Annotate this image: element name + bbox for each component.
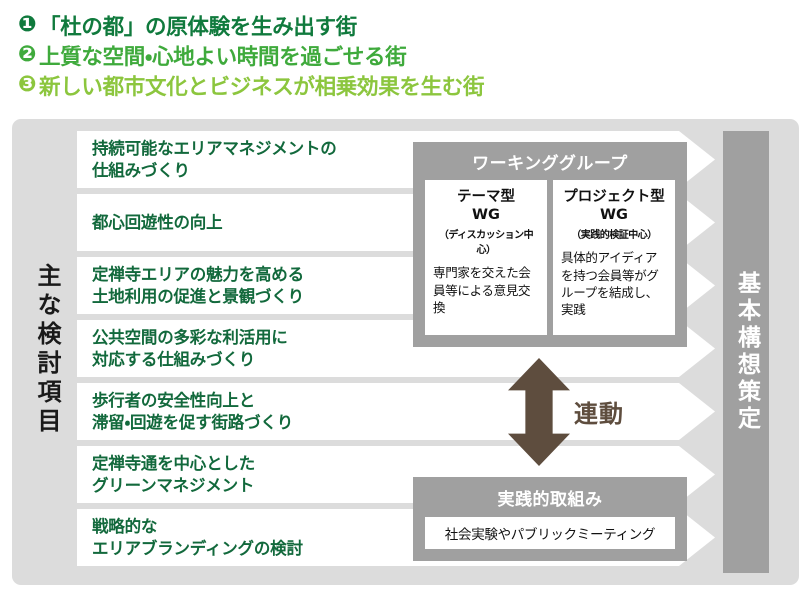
practical-efforts-box: 実践的取組み 社会実験やパブリックミーティング bbox=[413, 477, 687, 561]
goal-item-2: ❷ 上質な空間・心地よい時間を過ごせる街 bbox=[16, 40, 811, 70]
list-item-label: 定禅寺通を中心とした グリーンマネジメント bbox=[77, 453, 255, 497]
goal-bullet-1-icon: ❶ bbox=[16, 14, 38, 36]
list-item-label: 公共空間の多彩な利活用に 対応する仕組みづくり bbox=[77, 327, 288, 371]
wg-card-theme: テーマ型 WG （ディスカッション中心） 専門家を交えた会員等による意見交換 bbox=[425, 180, 547, 335]
goal-item-1: ❶ 「杜の都」の原体験を生み出す街 bbox=[16, 10, 811, 40]
goal-bullet-3-icon: ❸ bbox=[16, 74, 38, 96]
main-review-items-label: 主な検討項目 bbox=[24, 150, 70, 550]
goals-header: ❶ 「杜の都」の原体験を生み出す街 ❷ 上質な空間・心地よい時間を過ごせる街 ❸… bbox=[0, 0, 811, 112]
goal-text-2: 上質な空間・心地よい時間を過ごせる街 bbox=[39, 40, 406, 71]
goal-item-3: ❸ 新しい都市文化とビジネスが相乗効果を生む街 bbox=[16, 70, 811, 100]
list-item-label: 歩行者の安全性向上と 滞留・回遊を促す街路づくり bbox=[77, 390, 293, 434]
wg-card-description: 具体的アイディアを持つ会員等がグループを結成し、実践 bbox=[561, 249, 667, 318]
list-item-label: 戦略的な エリアブランディングの検討 bbox=[77, 516, 303, 560]
wg-card-name: テーマ型 WG bbox=[433, 188, 539, 224]
wg-card-subtitle: （ディスカッション中心） bbox=[433, 226, 539, 256]
working-group-cards: テーマ型 WG （ディスカッション中心） 専門家を交えた会員等による意見交換 プ… bbox=[425, 180, 675, 335]
practical-efforts-title: 実践的取組み bbox=[413, 477, 687, 517]
working-group-box: ワーキンググループ テーマ型 WG （ディスカッション中心） 専門家を交えた会員… bbox=[413, 142, 687, 347]
list-item-label: 定禅寺エリアの魅力を高める 土地利用の促進と景観づくり bbox=[77, 264, 304, 308]
basic-concept-label: 基本構想策定 bbox=[723, 131, 769, 573]
wg-card-subtitle: （実践的検証中心） bbox=[561, 226, 667, 241]
wg-card-project: プロジェクト型 WG （実践的検証中心） 具体的アイディアを持つ会員等がグループ… bbox=[553, 180, 675, 335]
wg-card-name: プロジェクト型 WG bbox=[561, 188, 667, 224]
goal-bullet-2-icon: ❷ bbox=[16, 44, 38, 66]
wg-card-description: 専門家を交えた会員等による意見交換 bbox=[433, 264, 539, 316]
list-item-label: 持続可能なエリアマネジメントの 仕組みづくり bbox=[77, 138, 337, 182]
practical-efforts-detail: 社会実験やパブリックミーティング bbox=[425, 517, 675, 549]
linkage-label: 連動 bbox=[574, 394, 624, 429]
working-group-title: ワーキンググループ bbox=[413, 142, 687, 180]
goal-text-1: 「杜の都」の原体験を生み出す街 bbox=[39, 10, 357, 41]
list-item-label: 都心回遊性の向上 bbox=[77, 212, 222, 234]
goal-text-3: 新しい都市文化とビジネスが相乗効果を生む街 bbox=[39, 70, 484, 101]
